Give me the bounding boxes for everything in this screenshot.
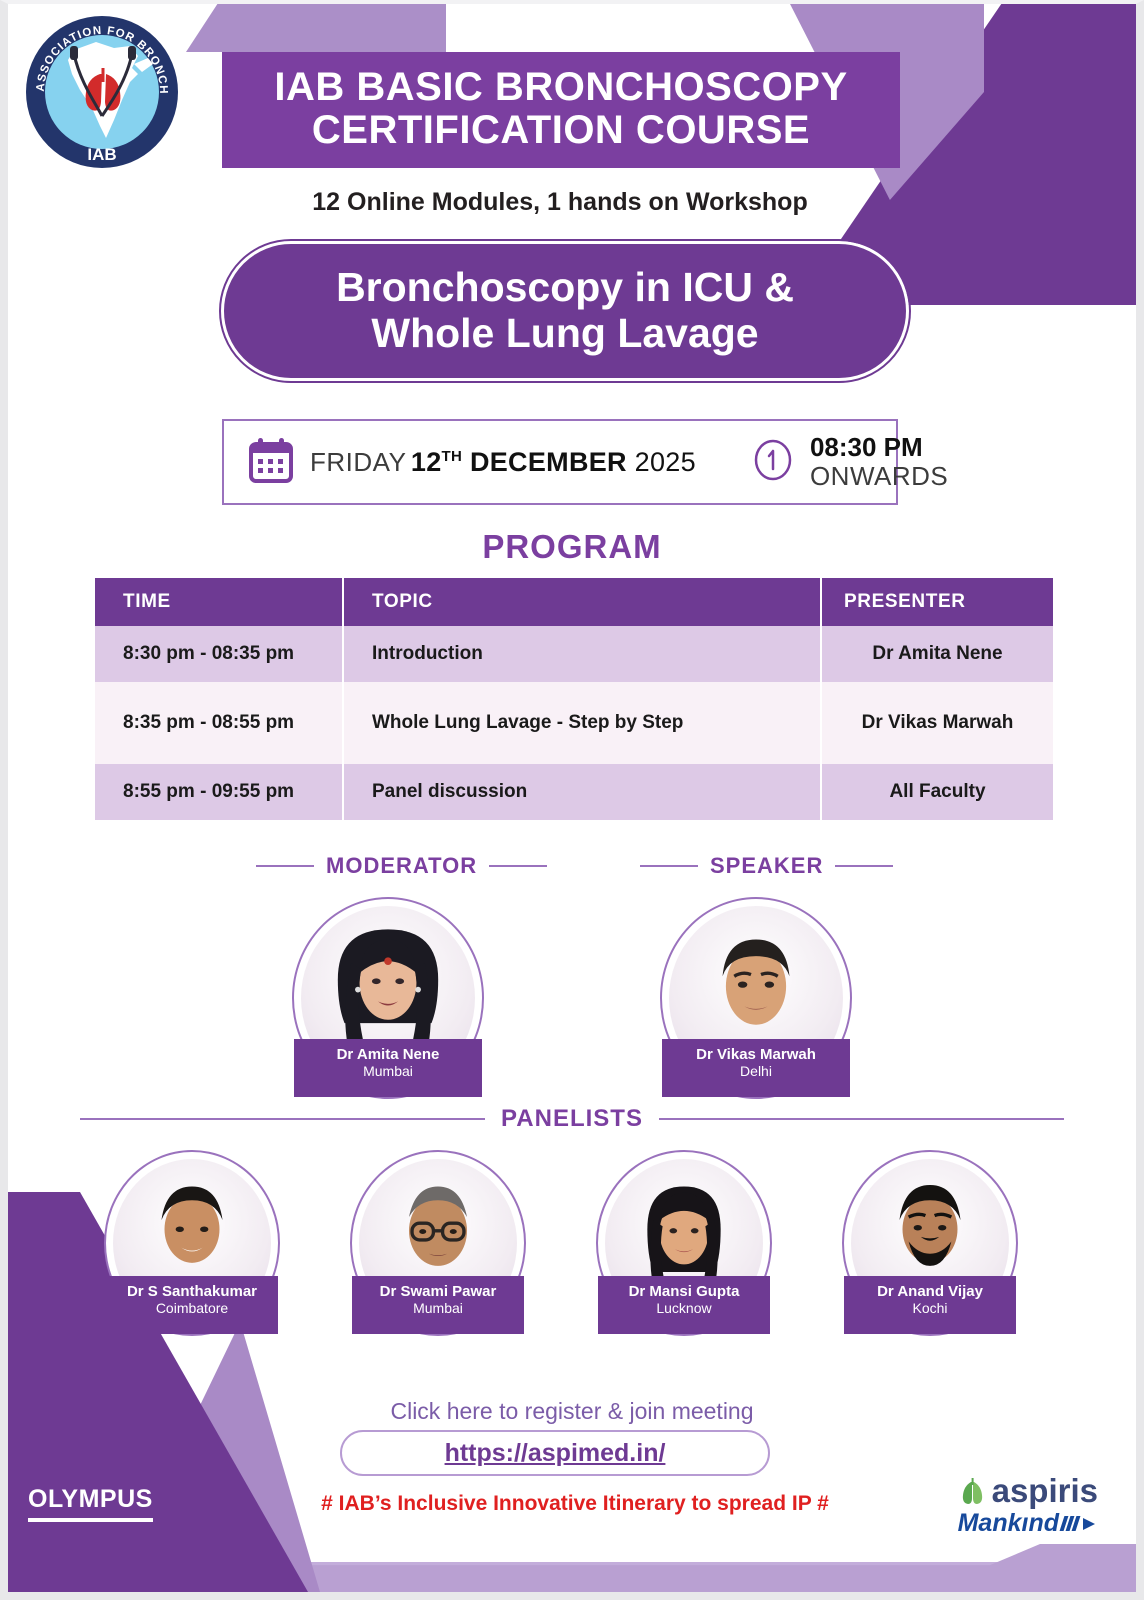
event-poster: INDIAN ASSOCIATION FOR BRONCHOLOGY IAB I… [0,0,1144,1600]
poster-frame-edge [0,0,1144,1600]
